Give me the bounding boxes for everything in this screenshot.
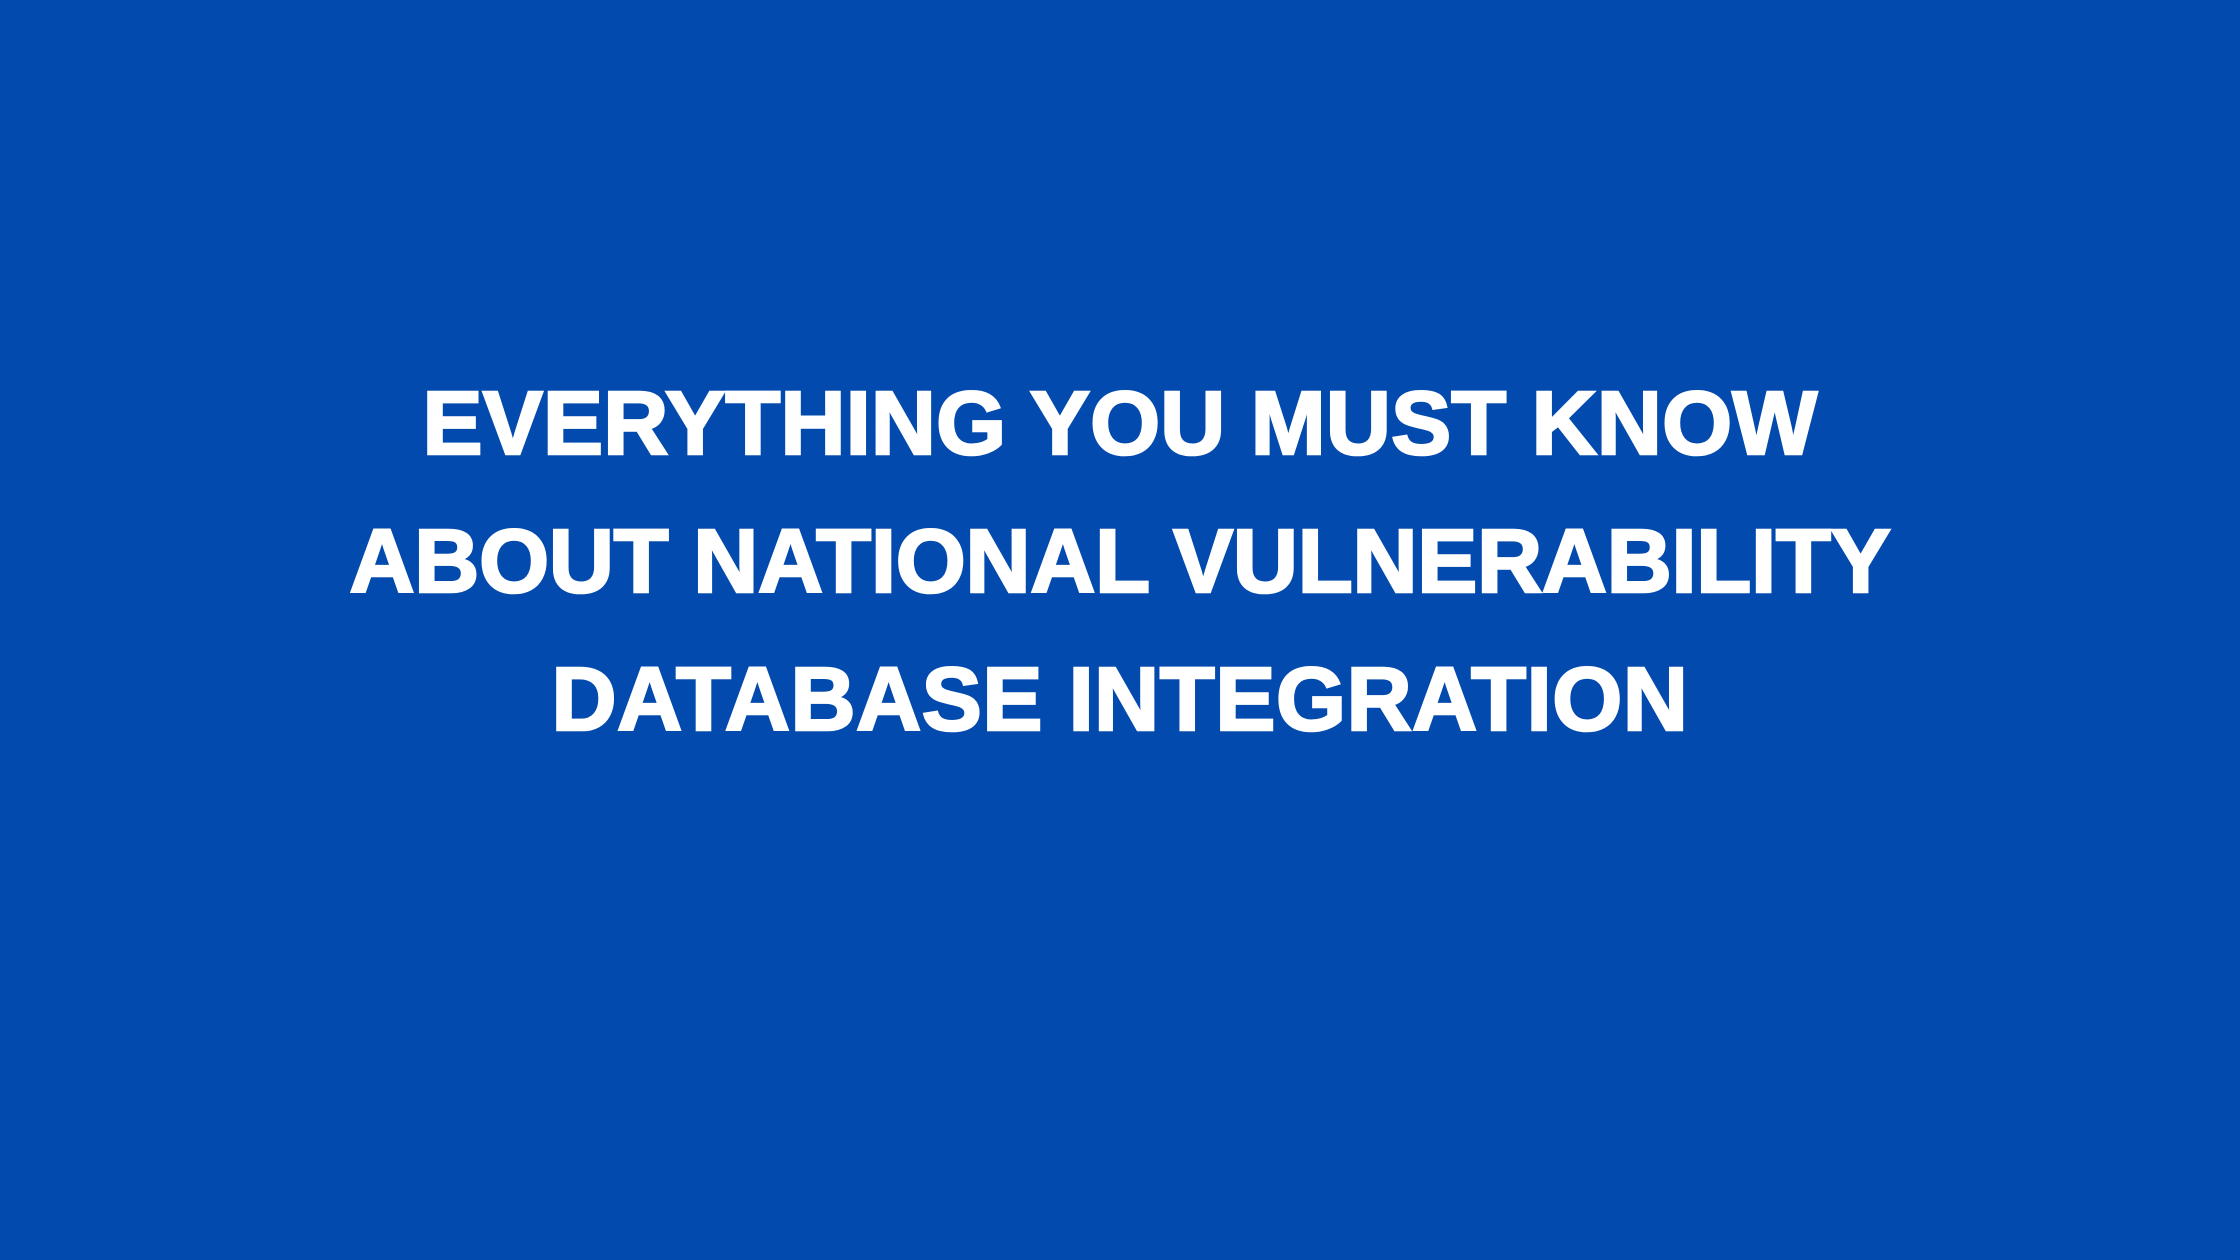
headline-line-1: EVERYTHING YOU MUST KNOW xyxy=(110,355,2130,493)
headline-block: EVERYTHING YOU MUST KNOW ABOUT NATIONAL … xyxy=(0,355,2240,769)
headline-line-3: DATABASE INTEGRATION xyxy=(110,631,2130,769)
blue-title-banner: EVERYTHING YOU MUST KNOW ABOUT NATIONAL … xyxy=(0,0,2240,1260)
headline-line-2: ABOUT NATIONAL VULNERABILITY xyxy=(110,493,2130,631)
